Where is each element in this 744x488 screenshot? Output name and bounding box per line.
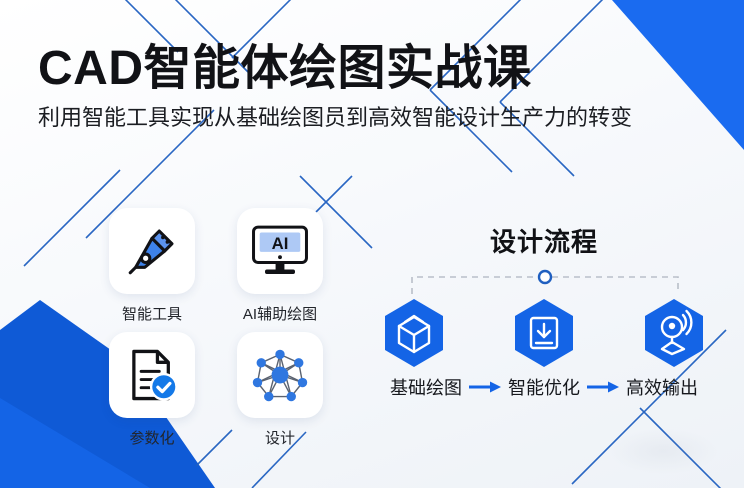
ai-monitor-icon: AI [250, 223, 310, 279]
course-poster: CAD智能体绘图实战课 利用智能工具实现从基础绘图员到高效智能设计生产力的转变 … [0, 0, 744, 488]
location-pin-signal-icon [641, 297, 707, 369]
page-title: CAD智能体绘图实战课 [38, 44, 708, 95]
feature-item-design[interactable]: 设计 [216, 332, 344, 456]
document-download-icon [511, 297, 577, 369]
flow-step-efficient-output[interactable] [640, 296, 708, 370]
feature-label: 设计 [265, 427, 295, 448]
cube-box-icon [381, 297, 447, 369]
arrow-right-icon [468, 380, 502, 394]
feature-tile: AI [237, 208, 323, 294]
flow-label-smart-optimize: 智能优化 [508, 374, 580, 400]
flow-label-efficient-output: 高效输出 [626, 374, 698, 400]
flow-label-row: 基础绘图 智能优化 高效输出 [358, 374, 730, 400]
flow-step-smart-optimize[interactable] [510, 296, 578, 370]
flow-title: 设计流程 [358, 222, 730, 259]
flow-step-basic-drawing[interactable] [380, 296, 448, 370]
network-nodes-icon [250, 345, 310, 405]
flow-bracket-connector [406, 268, 684, 298]
arrow-right-icon [586, 380, 620, 394]
feature-label: AI辅助绘图 [243, 303, 317, 324]
feature-label: 智能工具 [122, 303, 182, 324]
flow-label-basic-drawing: 基础绘图 [390, 374, 462, 400]
feature-item-ai-drawing[interactable]: AI AI辅助绘图 [216, 208, 344, 332]
flow-center-dot [539, 271, 551, 283]
feature-tile [109, 332, 195, 418]
pen-icon [123, 222, 181, 280]
page-subtitle: 利用智能工具实现从基础绘图员到高效智能设计生产力的转变 [38, 105, 708, 131]
feature-item-parametric[interactable]: 参数化 [88, 332, 216, 456]
feature-tile [237, 332, 323, 418]
watermark-blob [608, 428, 718, 474]
feature-item-smart-tools[interactable]: 智能工具 [88, 208, 216, 332]
feature-label: 参数化 [129, 427, 174, 448]
poster-header: CAD智能体绘图实战课 利用智能工具实现从基础绘图员到高效智能设计生产力的转变 [38, 44, 708, 131]
svg-text:AI: AI [272, 234, 289, 253]
feature-tile [109, 208, 195, 294]
design-flow-section: 设计流程 [358, 222, 730, 259]
flow-node-row [358, 296, 730, 370]
document-check-icon [123, 346, 181, 404]
feature-grid: 智能工具 AI AI辅助绘图 [88, 208, 344, 456]
